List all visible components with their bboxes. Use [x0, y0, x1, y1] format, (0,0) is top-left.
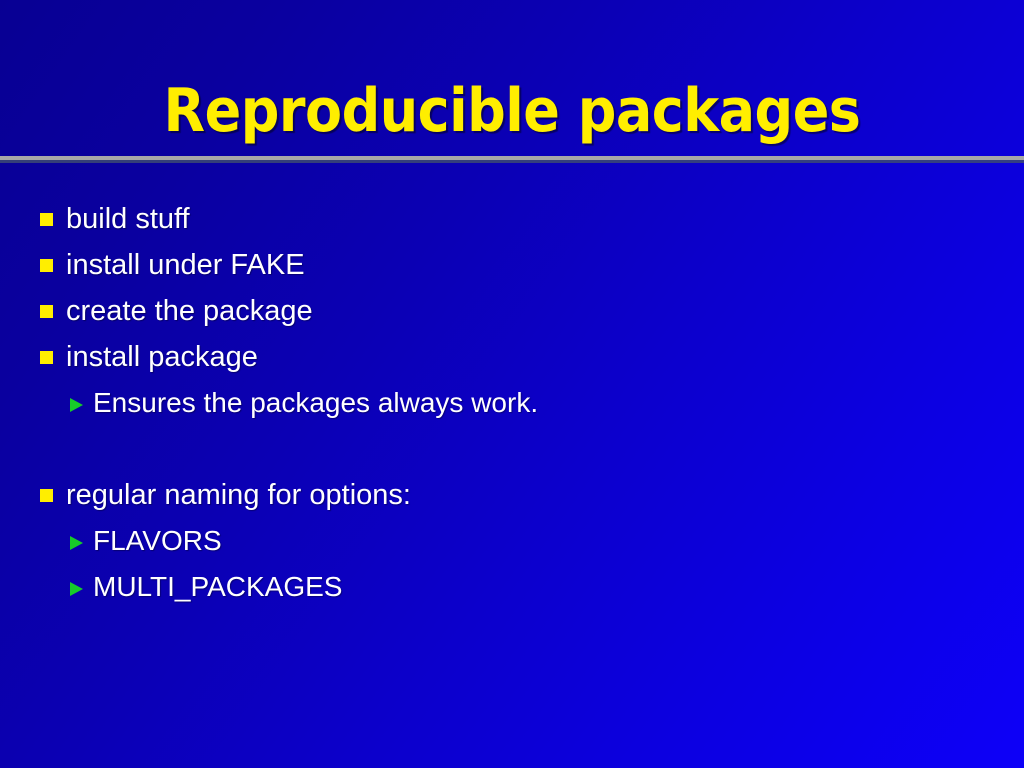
- list-item: regular naming for options:: [40, 474, 990, 520]
- list-item-label: install package: [66, 336, 258, 378]
- square-bullet-icon: [40, 213, 53, 226]
- sub-list-item: MULTI_PACKAGES: [40, 566, 990, 612]
- square-bullet-icon: [40, 305, 53, 318]
- sub-list-item: FLAVORS: [40, 520, 990, 566]
- list-spacer: [40, 428, 990, 474]
- list-item: create the package: [40, 290, 990, 336]
- list-item: install package: [40, 336, 990, 382]
- triangle-bullet-icon: [70, 536, 83, 550]
- square-bullet-icon: [40, 259, 53, 272]
- list-item-label: regular naming for options:: [66, 474, 411, 516]
- slide-title-area: Reproducible packages: [0, 74, 1024, 154]
- sub-list-item-label: FLAVORS: [93, 520, 222, 562]
- sub-list-item: Ensures the packages always work.: [40, 382, 990, 428]
- list-item-label: install under FAKE: [66, 244, 305, 286]
- slide-body-bullet-list: build stuff install under FAKE create th…: [40, 198, 990, 612]
- list-item: build stuff: [40, 198, 990, 244]
- title-divider-shadow: [0, 160, 1024, 163]
- sub-list-item-label: Ensures the packages always work.: [93, 382, 538, 424]
- sub-list-item-label: MULTI_PACKAGES: [93, 566, 342, 608]
- triangle-bullet-icon: [70, 582, 83, 596]
- presentation-slide: Reproducible packages build stuff instal…: [0, 0, 1024, 768]
- list-item-label: build stuff: [66, 198, 190, 240]
- page-title: Reproducible packages: [0, 74, 1024, 148]
- list-item-label: create the package: [66, 290, 313, 332]
- square-bullet-icon: [40, 489, 53, 502]
- list-item: install under FAKE: [40, 244, 990, 290]
- triangle-bullet-icon: [70, 398, 83, 412]
- square-bullet-icon: [40, 351, 53, 364]
